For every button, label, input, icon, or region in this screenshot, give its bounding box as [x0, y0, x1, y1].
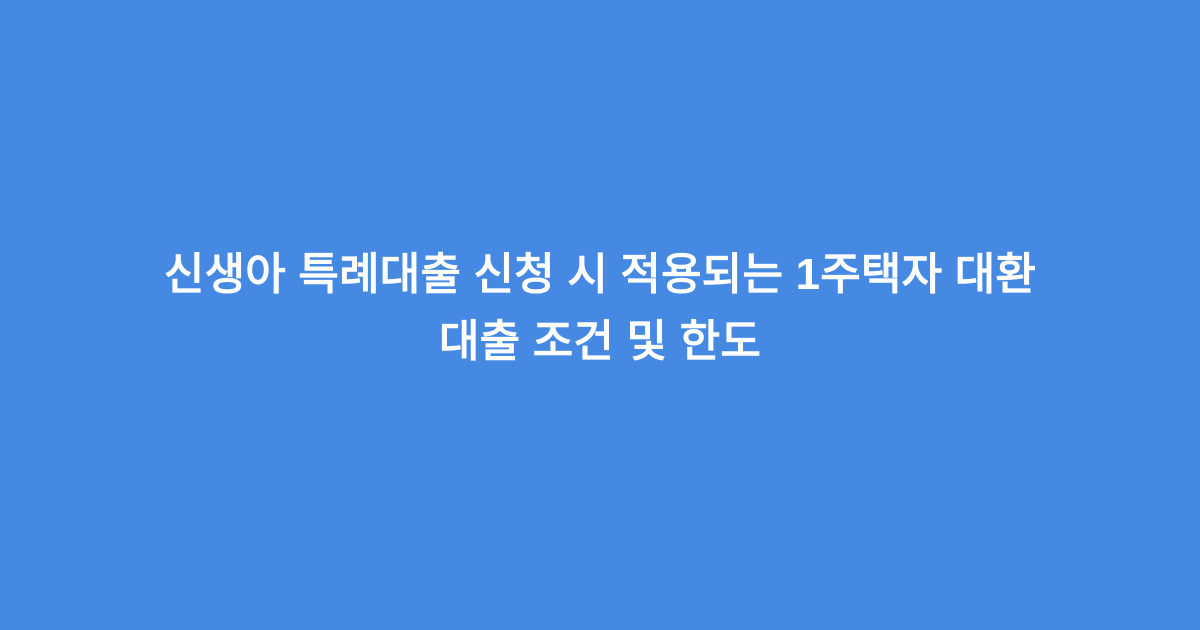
page-title: 신생아 특례대출 신청 시 적용되는 1주택자 대환 대출 조건 및 한도: [70, 241, 1130, 375]
title-line-2: 대출 조건 및 한도: [80, 308, 1120, 375]
title-line-1: 신생아 특례대출 신청 시 적용되는 1주택자 대환: [80, 241, 1120, 308]
thumbnail-card: 신생아 특례대출 신청 시 적용되는 1주택자 대환 대출 조건 및 한도: [0, 0, 1200, 630]
